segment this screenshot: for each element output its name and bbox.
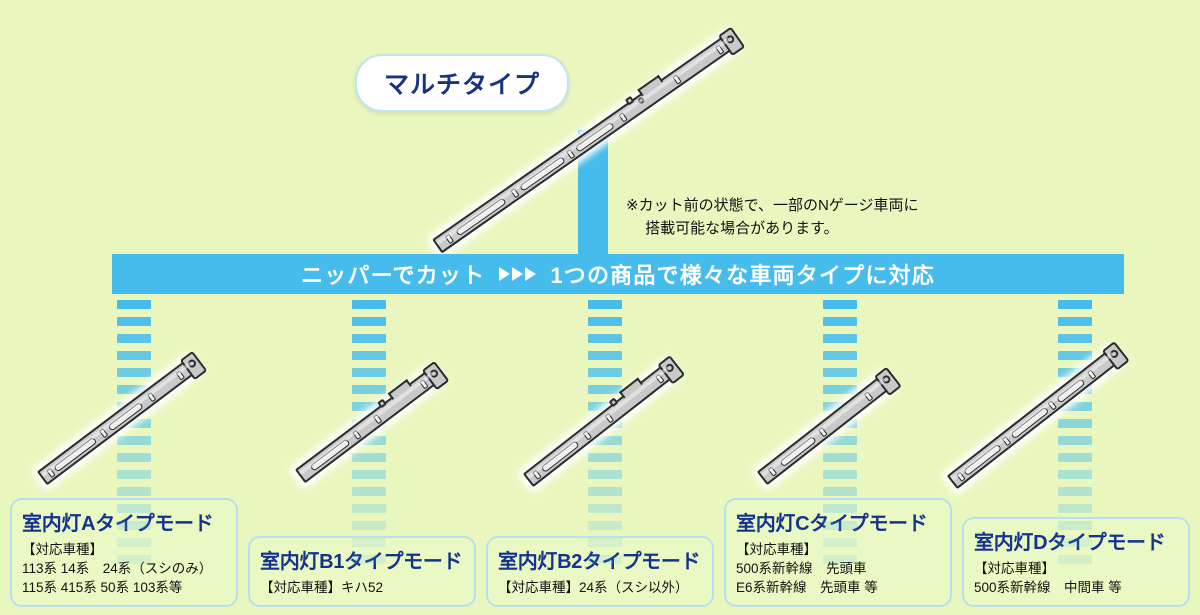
pre-cut-note: ※カット前の状態で、一部のNゲージ車両に 搭載可能な場合があります。 (626, 195, 919, 240)
strip-pin (1048, 400, 1057, 410)
dash-segment (823, 538, 857, 547)
strip-slot (541, 440, 580, 473)
banner-left-text: ニッパーでカット (301, 258, 485, 290)
dash-segment (823, 300, 857, 309)
dash-segment (1058, 504, 1092, 513)
strip-pin (99, 428, 108, 438)
dash-segment (1058, 419, 1092, 428)
dash-segment (352, 300, 386, 309)
strip-connector-nub (1102, 341, 1130, 371)
dash-segment (823, 555, 857, 564)
dash-segment (117, 470, 151, 479)
dash-segment (823, 351, 857, 360)
dash-segment (117, 504, 151, 513)
strip-pin (445, 234, 454, 244)
dash-segment (1058, 470, 1092, 479)
strip-pin (373, 414, 382, 424)
strip-pin (768, 467, 777, 477)
dash-segment (117, 487, 151, 496)
dash-segment (1058, 351, 1092, 360)
dash-segment (588, 385, 622, 394)
strip-slot (963, 444, 1002, 477)
diagram-canvas: マルチタイプ ※カット前の状態で、一部のNゲージ車両に 搭載可能な場合があります… (0, 0, 1200, 615)
dashed-connector-a (117, 300, 151, 572)
dash-segment (352, 334, 386, 343)
dash-segment (1058, 555, 1092, 564)
strip-shoulder (388, 379, 412, 400)
dash-segment (117, 368, 151, 377)
strip-pin (566, 149, 575, 159)
dash-segment (352, 521, 386, 530)
dash-segment (588, 470, 622, 479)
dash-segment (823, 504, 857, 513)
dash-segment (352, 385, 386, 394)
dash-segment (823, 385, 857, 394)
dash-segment (588, 504, 622, 513)
strip-pin (605, 413, 614, 423)
dash-segment (352, 453, 386, 462)
strip-pin (583, 430, 592, 440)
dash-segment (117, 538, 151, 547)
strip-hole (637, 96, 645, 104)
product-spec: 【対応車種】24系（スシ以外） (498, 578, 702, 597)
strip-pin (532, 470, 541, 480)
dash-segment (823, 487, 857, 496)
dash-segment (117, 521, 151, 530)
strip-pin (818, 427, 827, 437)
cut-instruction-banner: ニッパーでカット 1つの商品で様々な車両タイプに対応 (112, 254, 1124, 294)
dash-segment (588, 521, 622, 530)
strip-slot (519, 156, 566, 192)
strip-notch (609, 397, 619, 407)
dash-segment (823, 317, 857, 326)
strip-slot (779, 436, 816, 467)
strip-shoulder (619, 378, 643, 399)
strip-slot (310, 438, 351, 471)
dash-segment (1058, 436, 1092, 445)
strip-pin (864, 391, 873, 401)
dash-segment (352, 504, 386, 513)
strip-notch (377, 399, 387, 409)
dash-segment (588, 334, 622, 343)
strip-slot (1010, 407, 1049, 440)
strip-body (947, 348, 1121, 489)
strip-slot (455, 197, 507, 236)
dash-segment (588, 300, 622, 309)
dash-segment (588, 317, 622, 326)
product-spec: 【対応車種】キハ52 (260, 578, 464, 597)
dash-segment (1058, 538, 1092, 547)
strip-connector-nub (874, 367, 902, 397)
dash-segment (117, 300, 151, 309)
dash-segment (117, 555, 151, 564)
dash-segment (352, 470, 386, 479)
strip-pin (1002, 436, 1011, 446)
dash-segment (352, 487, 386, 496)
dash-segment (352, 351, 386, 360)
multi-type-label: マルチタイプ (384, 65, 540, 101)
dash-segment (1058, 334, 1092, 343)
triangle-right-icon (499, 267, 536, 281)
dash-segment (823, 521, 857, 530)
dash-segment (823, 470, 857, 479)
strip-pin (1087, 370, 1096, 380)
dash-segment (117, 436, 151, 445)
strip-shoulder (637, 75, 663, 96)
dash-segment (588, 368, 622, 377)
dash-segment (352, 555, 386, 564)
strip-pin (618, 112, 627, 122)
strip-pin (352, 430, 361, 440)
multi-type-badge: マルチタイプ (355, 54, 569, 112)
dash-segment (588, 453, 622, 462)
dash-segment (117, 317, 151, 326)
dash-segment (588, 487, 622, 496)
dash-segment (823, 368, 857, 377)
strip-pin (176, 370, 185, 380)
banner-right-text: 1つの商品で様々な車両タイプに対応 (550, 258, 935, 290)
dash-segment (588, 555, 622, 564)
dash-segment (1058, 487, 1092, 496)
dash-segment (588, 351, 622, 360)
dashed-connector-d (1058, 300, 1092, 572)
strip-slot (53, 437, 97, 473)
strip-pin (655, 374, 664, 384)
dash-segment (352, 538, 386, 547)
dash-segment (117, 334, 151, 343)
dash-segment (1058, 300, 1092, 309)
dash-segment (352, 317, 386, 326)
strip-pin (147, 392, 156, 402)
dash-segment (117, 453, 151, 462)
dash-segment (117, 351, 151, 360)
dash-segment (1058, 317, 1092, 326)
dash-segment (1058, 453, 1092, 462)
strip-pin (715, 45, 724, 55)
dash-segment (823, 334, 857, 343)
strip-pin (510, 188, 519, 198)
strip-notch (625, 96, 635, 106)
dash-segment (588, 538, 622, 547)
dash-segment (823, 453, 857, 462)
strip-pin (419, 379, 428, 389)
strip-pin (673, 74, 682, 84)
light-strip-d (947, 348, 1121, 489)
dash-segment (1058, 521, 1092, 530)
dash-segment (352, 368, 386, 377)
